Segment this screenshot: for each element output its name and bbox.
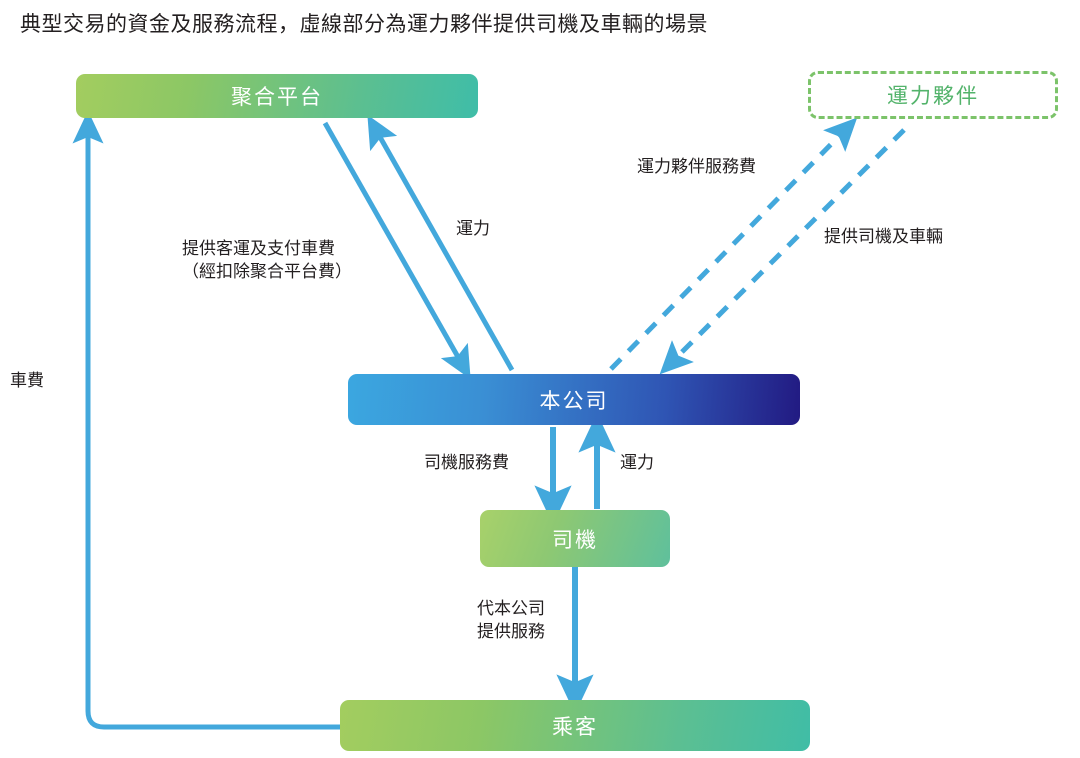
node-passenger-label: 乘客 (552, 711, 598, 741)
edge-label-ride-payment: 提供客運及支付車費 （經扣除聚合平台費） (182, 238, 352, 284)
edge-label-partner-fee: 運力夥伴服務費 (637, 156, 756, 179)
edge-label-ride-payment-line1: 提供客運及支付車費 (182, 238, 352, 261)
node-passenger[interactable]: 乘客 (340, 700, 810, 751)
edge-fare (88, 128, 340, 727)
node-partner-label: 運力夥伴 (887, 80, 979, 110)
edge-label-capacity-mid: 運力 (620, 452, 654, 475)
node-company[interactable]: 本公司 (348, 374, 800, 425)
edge-label-on-behalf: 代本公司 提供服務 (477, 598, 545, 644)
edge-label-driver-fee: 司機服務費 (424, 452, 509, 475)
node-driver-label: 司機 (552, 524, 598, 554)
edge-label-on-behalf-line1: 代本公司 (477, 598, 545, 621)
node-company-label: 本公司 (540, 385, 609, 415)
diagram-canvas: 典型交易的資金及服務流程，虛線部分為運力夥伴提供司機及車輛的場景 (0, 0, 1080, 758)
edge-label-capacity-top: 運力 (456, 218, 490, 241)
node-driver[interactable]: 司機 (480, 510, 670, 567)
edge-label-on-behalf-line2: 提供服務 (477, 621, 545, 644)
edge-label-provide-driver-vehicle: 提供司機及車輛 (824, 226, 943, 249)
node-platform-label: 聚合平台 (231, 81, 323, 111)
node-platform[interactable]: 聚合平台 (76, 74, 478, 118)
edge-label-ride-payment-line2: （經扣除聚合平台費） (182, 261, 352, 284)
edge-label-fare: 車費 (10, 370, 44, 393)
node-partner[interactable]: 運力夥伴 (808, 71, 1058, 119)
